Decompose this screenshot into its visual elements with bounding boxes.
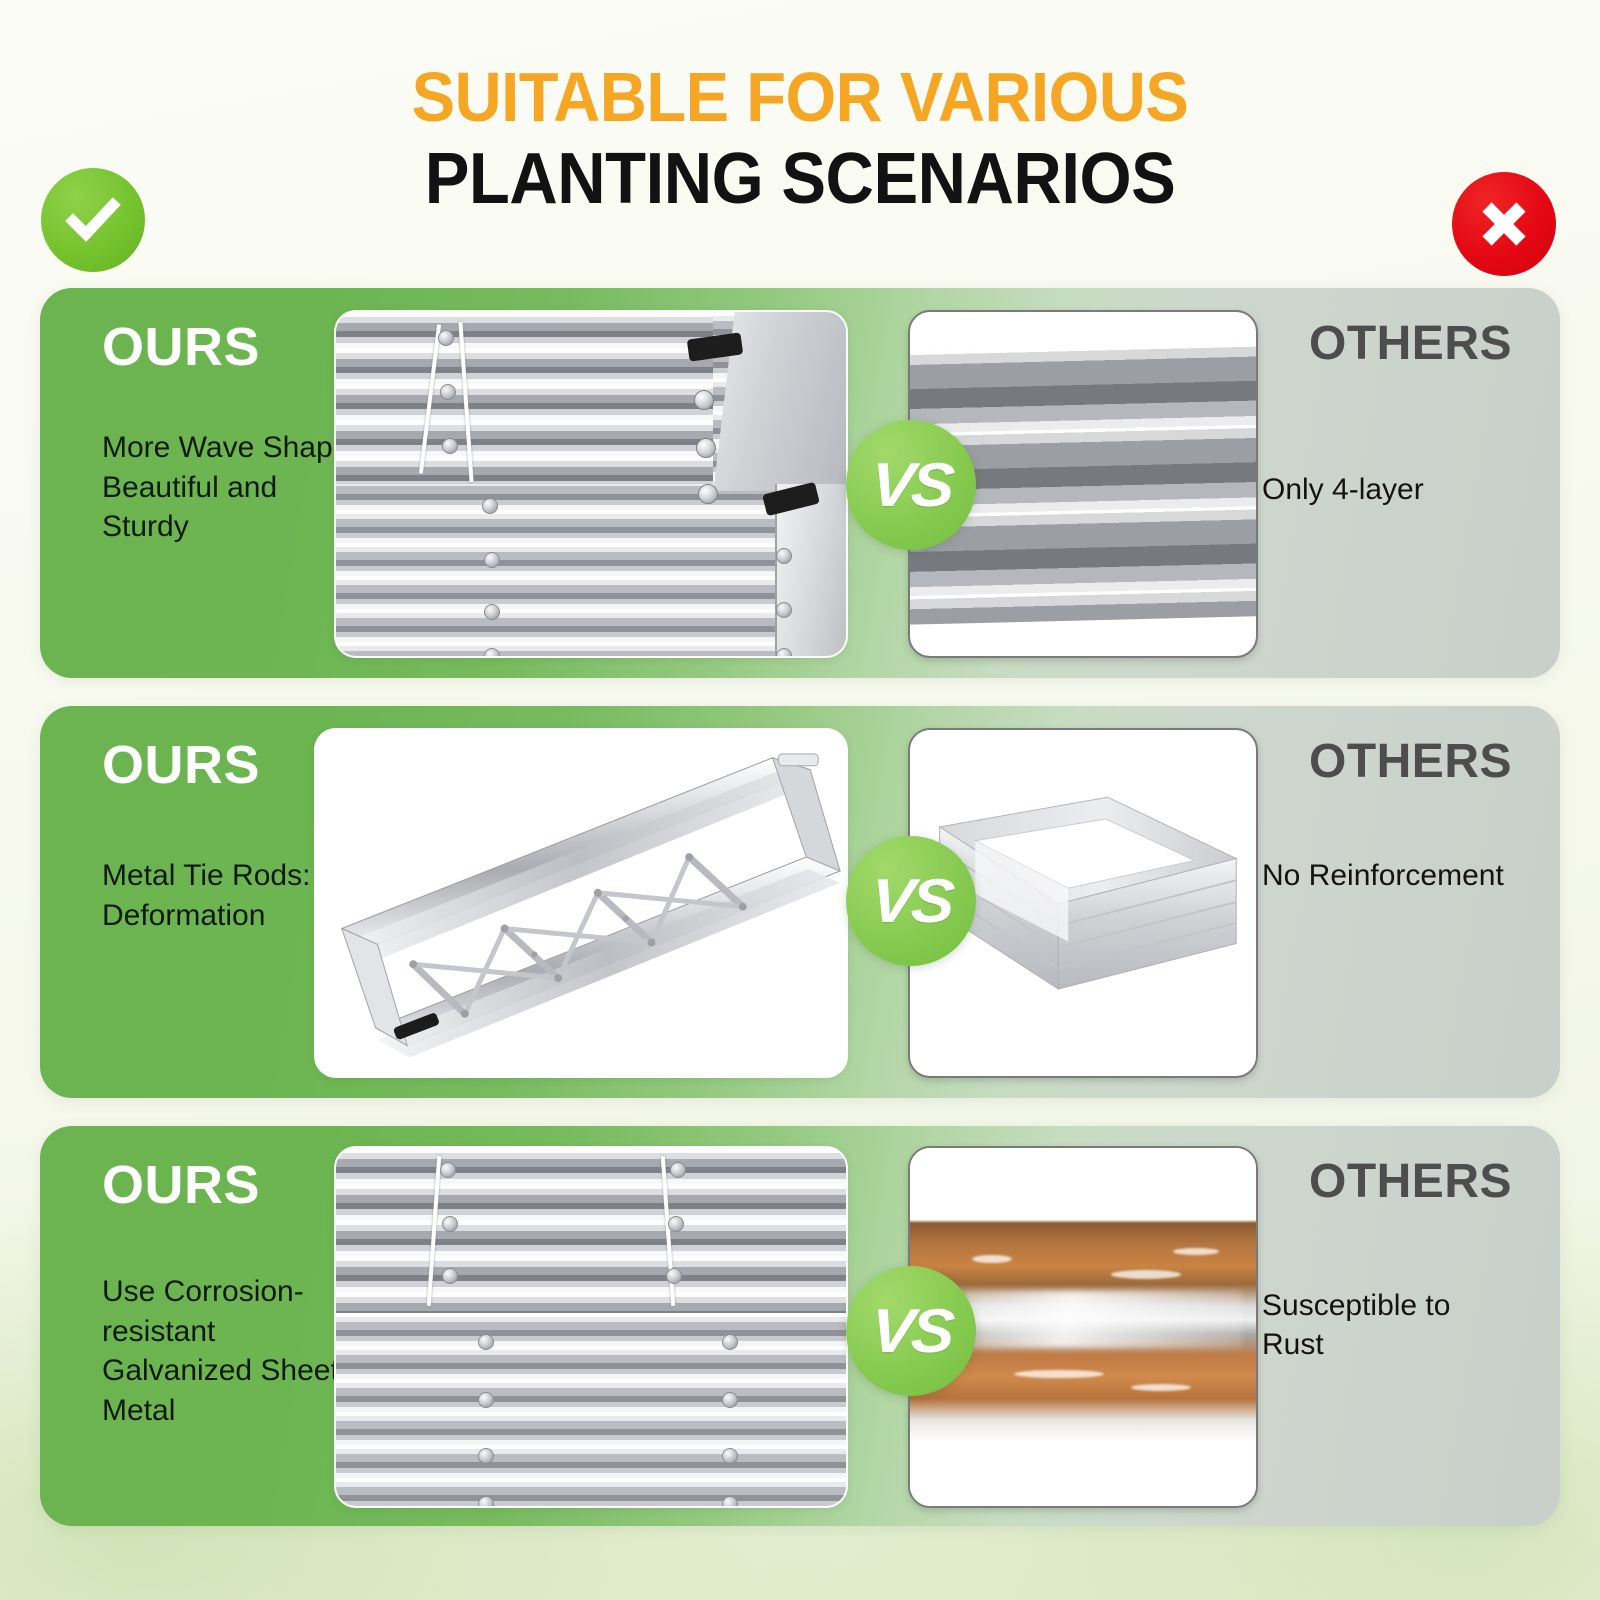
others-label: OTHERS (1309, 734, 1512, 789)
vs-badge-2: VS (846, 836, 976, 966)
vs-label: VS (868, 1296, 954, 1367)
ours-product-image-card-2 (314, 728, 848, 1078)
galvanized-sheet-metal-bed-photo (336, 1148, 846, 1506)
title-line-2: PLANTING SCENARIOS (56, 143, 1544, 216)
ours-product-image-card-1 (334, 310, 848, 658)
ours-description: Use Corrosion-resistant Galvanized Sheet… (102, 1272, 370, 1430)
corrugated-raised-bed-photo (336, 312, 846, 656)
others-description: Susceptible to Rust (1262, 1286, 1512, 1364)
infographic-page: SUITABLE FOR VARIOUS PLANTING SCENARIOS … (0, 0, 1600, 1600)
others-label: OTHERS (1309, 1154, 1512, 1209)
comparison-row-1: OURS More Wave Shape, Beautiful and Stur… (40, 288, 1560, 678)
title-line-1: SUITABLE FOR VARIOUS (56, 62, 1544, 133)
comparison-row-3: OURS Use Corrosion-resistant Galvanized … (40, 1126, 1560, 1526)
vs-badge-3: VS (846, 1266, 976, 1396)
vs-badge-1: VS (846, 420, 976, 550)
ours-label: OURS (102, 1154, 260, 1216)
vs-label: VS (868, 450, 954, 521)
frame-with-tie-rods-photo (316, 730, 846, 1077)
ours-label: OURS (102, 734, 260, 796)
ours-label: OURS (102, 316, 260, 378)
others-description: Only 4-layer (1262, 470, 1512, 509)
vs-label: VS (868, 866, 954, 937)
others-description: No Reinforcement (1262, 856, 1512, 895)
others-label: OTHERS (1309, 316, 1512, 371)
page-title: SUITABLE FOR VARIOUS PLANTING SCENARIOS (0, 62, 1600, 217)
ours-product-image-card-3 (334, 1146, 848, 1508)
ours-description: More Wave Shape, Beautiful and Sturdy (102, 428, 370, 547)
comparison-row-2: OURS Metal Tie Rods: No Deformation (40, 706, 1560, 1098)
x-circle-icon (1452, 172, 1556, 276)
page-header: SUITABLE FOR VARIOUS PLANTING SCENARIOS (0, 0, 1600, 290)
